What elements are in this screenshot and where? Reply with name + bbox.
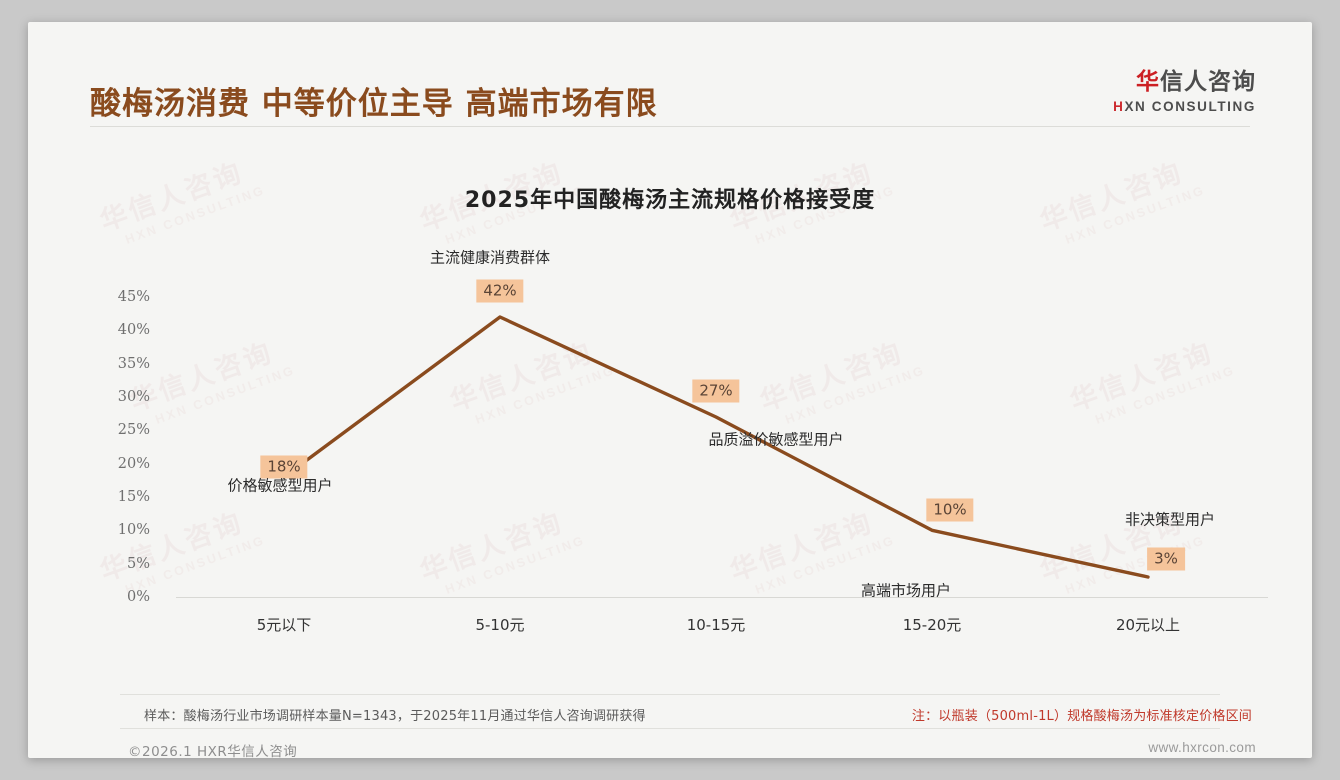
logo-h-char: H [1113,99,1124,114]
footer-divider-top [120,694,1220,695]
x-axis-tick-label: 5元以下 [257,614,312,635]
page-title: 酸梅汤消费 中等价位主导 高端市场有限 [90,78,658,123]
data-point-annotation: 品质溢价敏感型用户 [708,429,843,450]
data-point-label: 42% [476,280,523,303]
logo-english-text: HXN CONSULTING [1113,99,1256,114]
data-point-annotation: 价格敏感型用户 [227,475,332,496]
header-divider [90,126,1250,127]
footer-divider-bottom [120,728,1220,729]
copyright-text: ©2026.1 HXR华信人咨询 [128,740,297,758]
data-point-annotation: 主流健康消费群体 [430,247,550,268]
data-point-annotation: 高端市场用户 [861,580,951,601]
data-point-label: 3% [1147,548,1185,571]
slide-header: 酸梅汤消费 中等价位主导 高端市场有限 华信人咨询 HXN CONSULTING [28,22,1312,122]
x-axis-tick-label: 20元以上 [1116,614,1180,635]
slide-canvas: 华信人咨询HXN CONSULTING华信人咨询HXN CONSULTING华信… [28,22,1312,758]
chart-plot-area: 0%5%10%15%20%25%30%35%40%45% 18%42%27%10… [88,262,1268,662]
data-point-label: 10% [926,499,973,522]
spec-note: 注：以瓶装（500ml-1L）规格酸梅汤为标准核定价格区间 [912,705,1252,724]
data-point-label: 27% [692,380,739,403]
x-axis-tick-label: 15-20元 [903,614,962,635]
sample-note: 样本：酸梅汤行业市场调研样本量N=1343，于2025年11月通过华信人咨询调研… [144,705,646,724]
chart-title: 2025年中国酸梅汤主流规格价格接受度 [28,182,1312,214]
data-point-annotation: 非决策型用户 [1125,509,1215,530]
logo-cn-rest: 信人咨询 [1160,69,1256,95]
website-url: www.hxrcon.com [1148,740,1256,755]
x-axis-tick-label: 5-10元 [475,614,524,635]
logo-hua-char: 华 [1136,69,1160,95]
x-axis-tick-label: 10-15元 [687,614,746,635]
logo-chinese-text: 华信人咨询 [1113,62,1256,96]
brand-logo: 华信人咨询 HXN CONSULTING [1113,62,1256,114]
logo-en-rest: XN CONSULTING [1124,99,1256,114]
